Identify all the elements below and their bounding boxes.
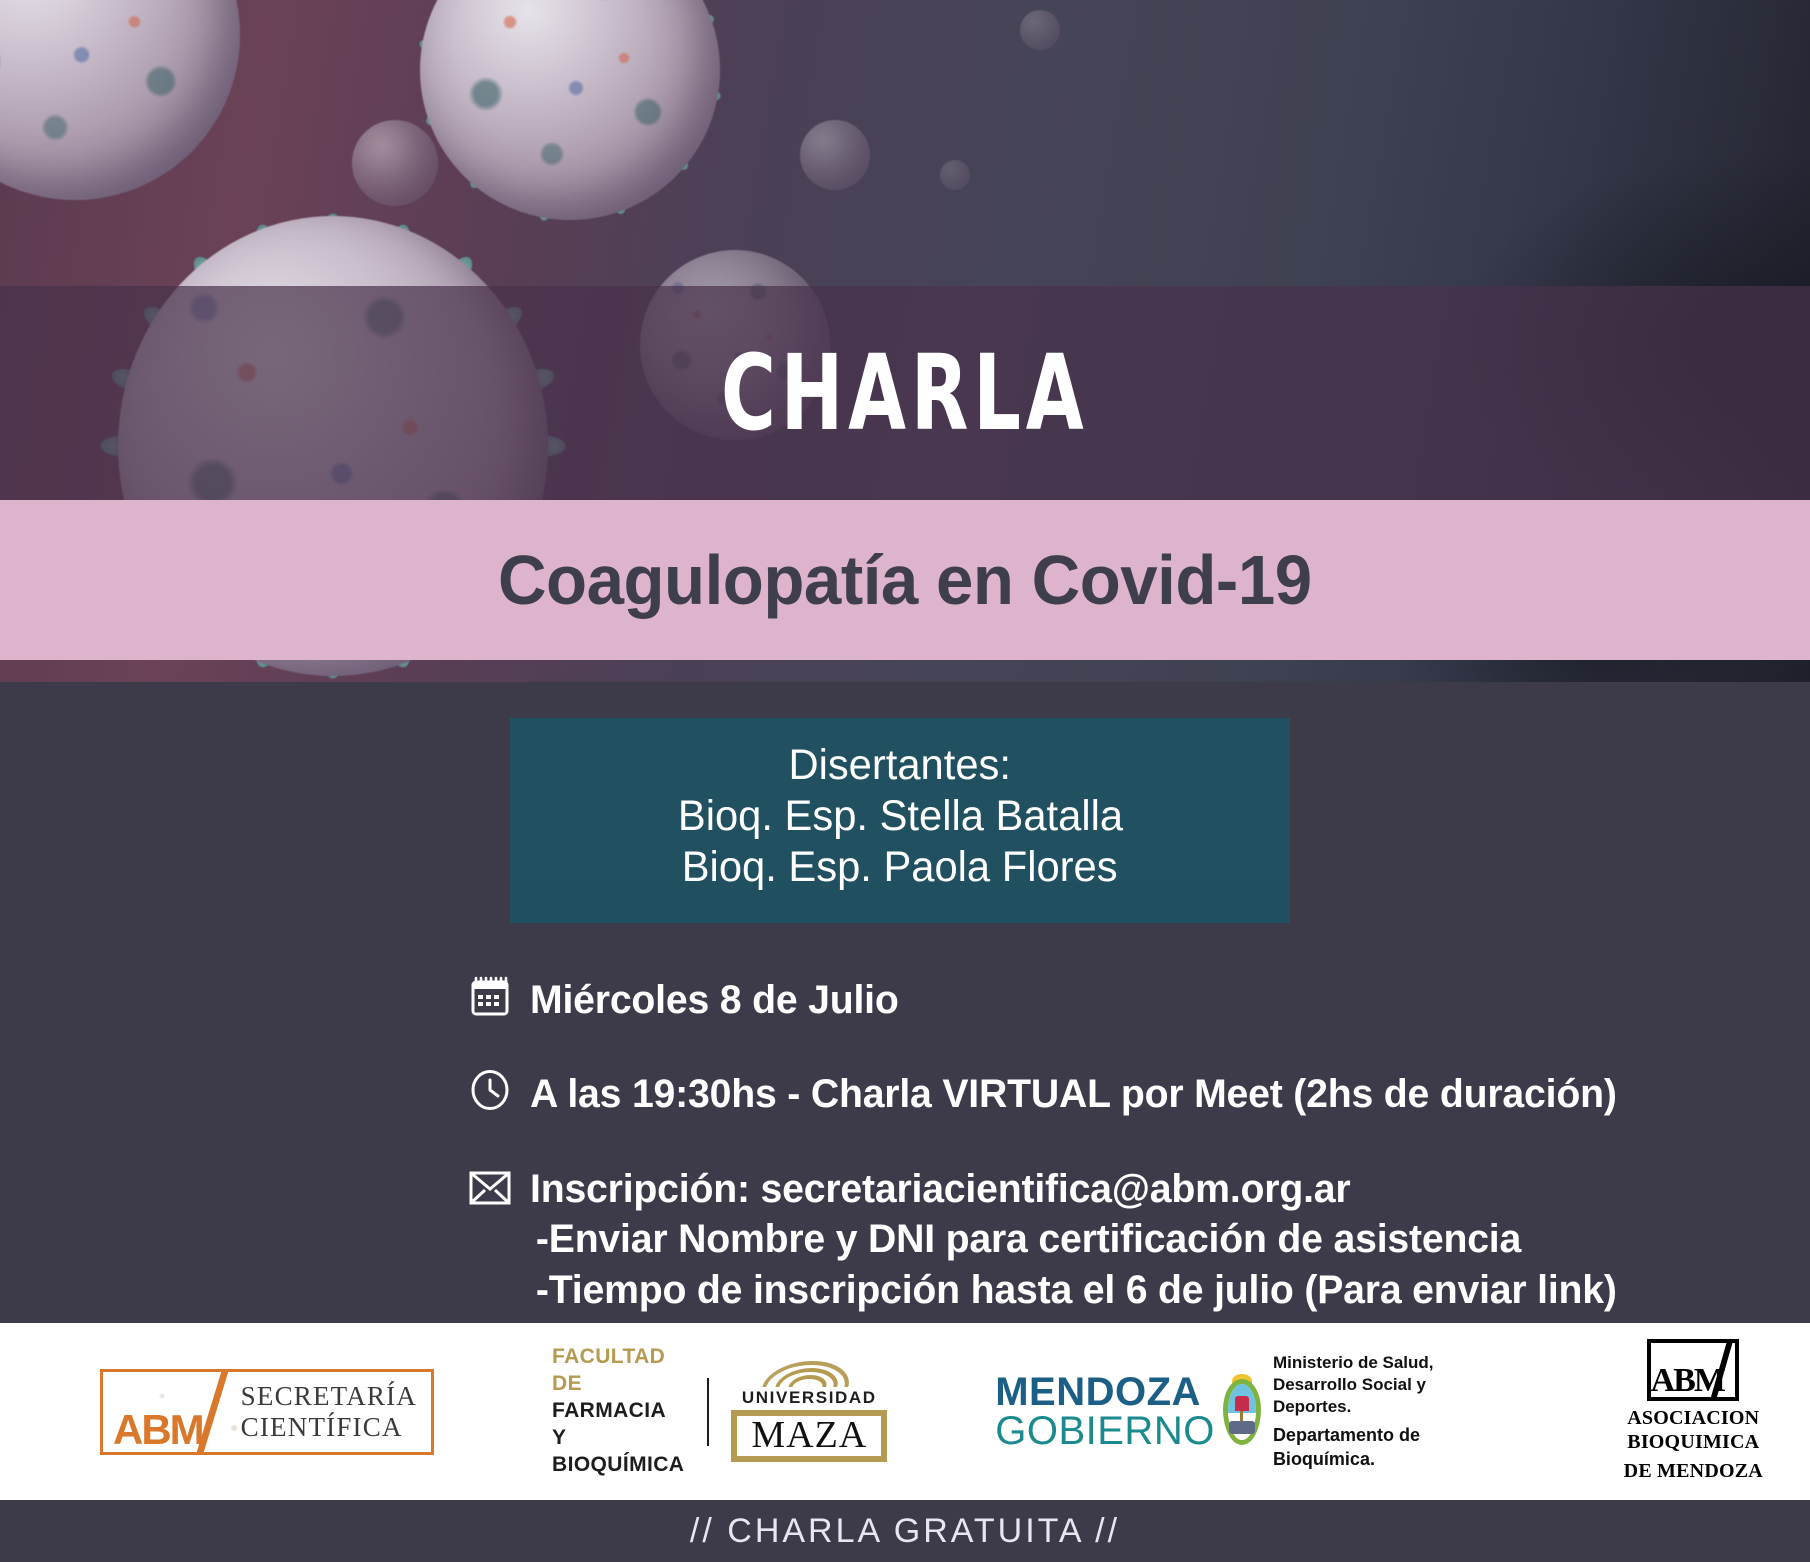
detail-text-time: A las 19:30hs - Charla VIRTUAL por Meet … — [530, 1069, 1617, 1119]
registration-note-1: -Enviar Nombre y DNI para certificación … — [530, 1214, 1617, 1264]
ministry-department: Departamento de Bioquímica. — [1273, 1424, 1467, 1471]
detail-row-registration: Inscripción: secretariacientifica@abm.or… — [466, 1164, 1786, 1315]
abm-wordmark: ABM — [103, 1410, 207, 1452]
event-details: Miércoles 8 de Julio A las 19:30hs - Cha… — [466, 975, 1786, 1315]
logo-mendoza-gobierno: MENDOZA GOBIERNO Ministerio de Salud, De… — [995, 1352, 1466, 1471]
free-talk-bar: // CHARLA GRATUITA // — [0, 1500, 1810, 1562]
virus-particle — [420, 0, 720, 220]
abm-secretaria-text: SECRETARÍA CIENTÍFICA — [233, 1372, 431, 1452]
logo-divider — [707, 1378, 710, 1446]
speaker-name: Bioq. Esp. Paola Flores — [682, 842, 1118, 893]
abm-asociacion-line-1: ASOCIACION BIOQUIMICA — [1577, 1407, 1810, 1454]
ministry-line-2: Desarrollo Social y Deportes. — [1273, 1374, 1467, 1418]
abm-slash-icon — [207, 1372, 233, 1452]
subtitle-banner: Coagulopatía en Covid-19 — [0, 500, 1810, 660]
facultad-line-3: BIOQUÍMICA — [552, 1452, 685, 1479]
clock-icon — [466, 1069, 514, 1115]
logo-facultad-maza: FACULTAD DE FARMACIA Y BIOQUÍMICA UNIVER… — [552, 1344, 887, 1478]
detail-row-time: A las 19:30hs - Charla VIRTUAL por Meet … — [466, 1069, 1786, 1119]
detail-text-date: Miércoles 8 de Julio — [530, 975, 899, 1025]
facultad-line-1: FACULTAD DE — [552, 1344, 685, 1398]
virus-particle-small — [1020, 10, 1060, 50]
speakers-box: Disertantes: Bioq. Esp. Stella Batalla B… — [510, 718, 1290, 923]
ministry-line-1: Ministerio de Salud, — [1273, 1352, 1467, 1374]
logo-abm-asociacion: ABM ASOCIACION BIOQUIMICA DE MENDOZA — [1577, 1339, 1810, 1484]
detail-text-registration: Inscripción: secretariacientifica@abm.or… — [530, 1164, 1617, 1315]
virus-spikes — [0, 0, 286, 246]
charla-banner: CHARLA — [0, 286, 1810, 500]
virus-particle — [0, 0, 240, 200]
envelope-icon — [466, 1164, 514, 1210]
page-title-eyebrow: CHARLA — [721, 341, 1089, 445]
abm-secretaria-line-2: CIENTÍFICA — [241, 1412, 417, 1442]
virus-particle-small — [800, 120, 870, 190]
abm-logo-mark: ABM — [1647, 1339, 1739, 1401]
logo-abm-secretaria-cientifica: ABM SECRETARÍA CIENTÍFICA — [100, 1369, 434, 1455]
ministry-text: Ministerio de Salud, Desarrollo Social y… — [1273, 1352, 1467, 1471]
mendoza-line-1: MENDOZA — [995, 1373, 1215, 1411]
mendoza-coat-of-arms-icon — [1223, 1379, 1261, 1445]
virus-particle-small — [352, 120, 438, 206]
mendoza-line-2: GOBIERNO — [995, 1412, 1215, 1450]
speakers-label: Disertantes: — [789, 740, 1012, 791]
registration-email-line: Inscripción: secretariacientifica@abm.or… — [530, 1167, 1350, 1211]
virus-particle-small — [940, 160, 970, 190]
facultad-text: FACULTAD DE FARMACIA Y BIOQUÍMICA — [552, 1344, 685, 1478]
abm-asociacion-line-2: DE MENDOZA — [1624, 1460, 1763, 1484]
maza-logo: UNIVERSIDAD MAZA — [731, 1361, 887, 1462]
virus-spikes — [378, 0, 762, 262]
maza-universidad-label: UNIVERSIDAD — [742, 1388, 877, 1408]
maza-arcs-icon — [757, 1361, 861, 1387]
facultad-line-2: FARMACIA Y — [552, 1398, 685, 1452]
speaker-name: Bioq. Esp. Stella Batalla — [677, 791, 1122, 842]
detail-row-date: Miércoles 8 de Julio — [466, 975, 1786, 1025]
registration-note-2: -Tiempo de inscripción hasta el 6 de jul… — [530, 1265, 1617, 1315]
abm-secretaria-line-1: SECRETARÍA — [241, 1381, 417, 1411]
sponsor-logo-strip: ABM SECRETARÍA CIENTÍFICA FACULTAD DE FA… — [0, 1323, 1810, 1500]
free-talk-note: // CHARLA GRATUITA // — [690, 1512, 1120, 1551]
calendar-icon — [466, 975, 514, 1021]
page-title: Coagulopatía en Covid-19 — [498, 540, 1312, 620]
event-poster: CHARLA Coagulopatía en Covid-19 Disertan… — [0, 0, 1810, 1562]
maza-wordmark: MAZA — [731, 1410, 887, 1462]
mendoza-wordmark: MENDOZA GOBIERNO — [995, 1373, 1215, 1450]
